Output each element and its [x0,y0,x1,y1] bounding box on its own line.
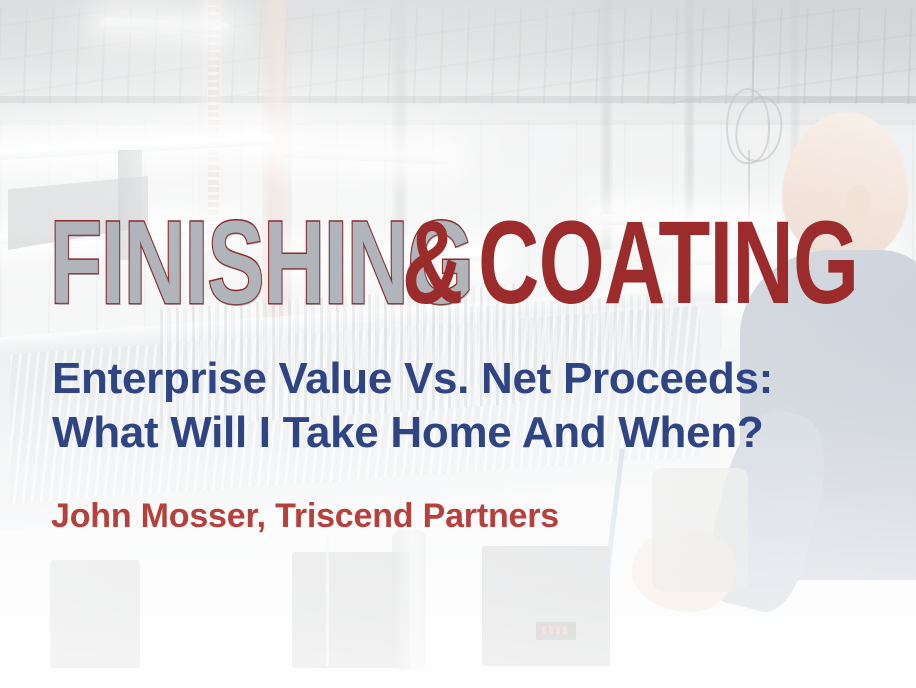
title-slide: FINISHING & COATING Enterprise Value Vs.… [0,0,916,688]
presenter-byline: John Mosser, Triscend Partners [51,497,559,536]
slide-content: FINISHING & COATING Enterprise Value Vs.… [0,0,916,688]
presentation-subtitle: Enterprise Value Vs. Net Proceeds: What … [52,352,882,459]
subtitle-line-2: What Will I Take Home And When? [52,406,882,460]
brand-title: FINISHING & COATING [50,206,890,310]
brand-title-ampersand: & [402,216,463,310]
subtitle-line-1: Enterprise Value Vs. Net Proceeds: [52,352,882,406]
brand-title-coating: COATING [478,216,858,310]
